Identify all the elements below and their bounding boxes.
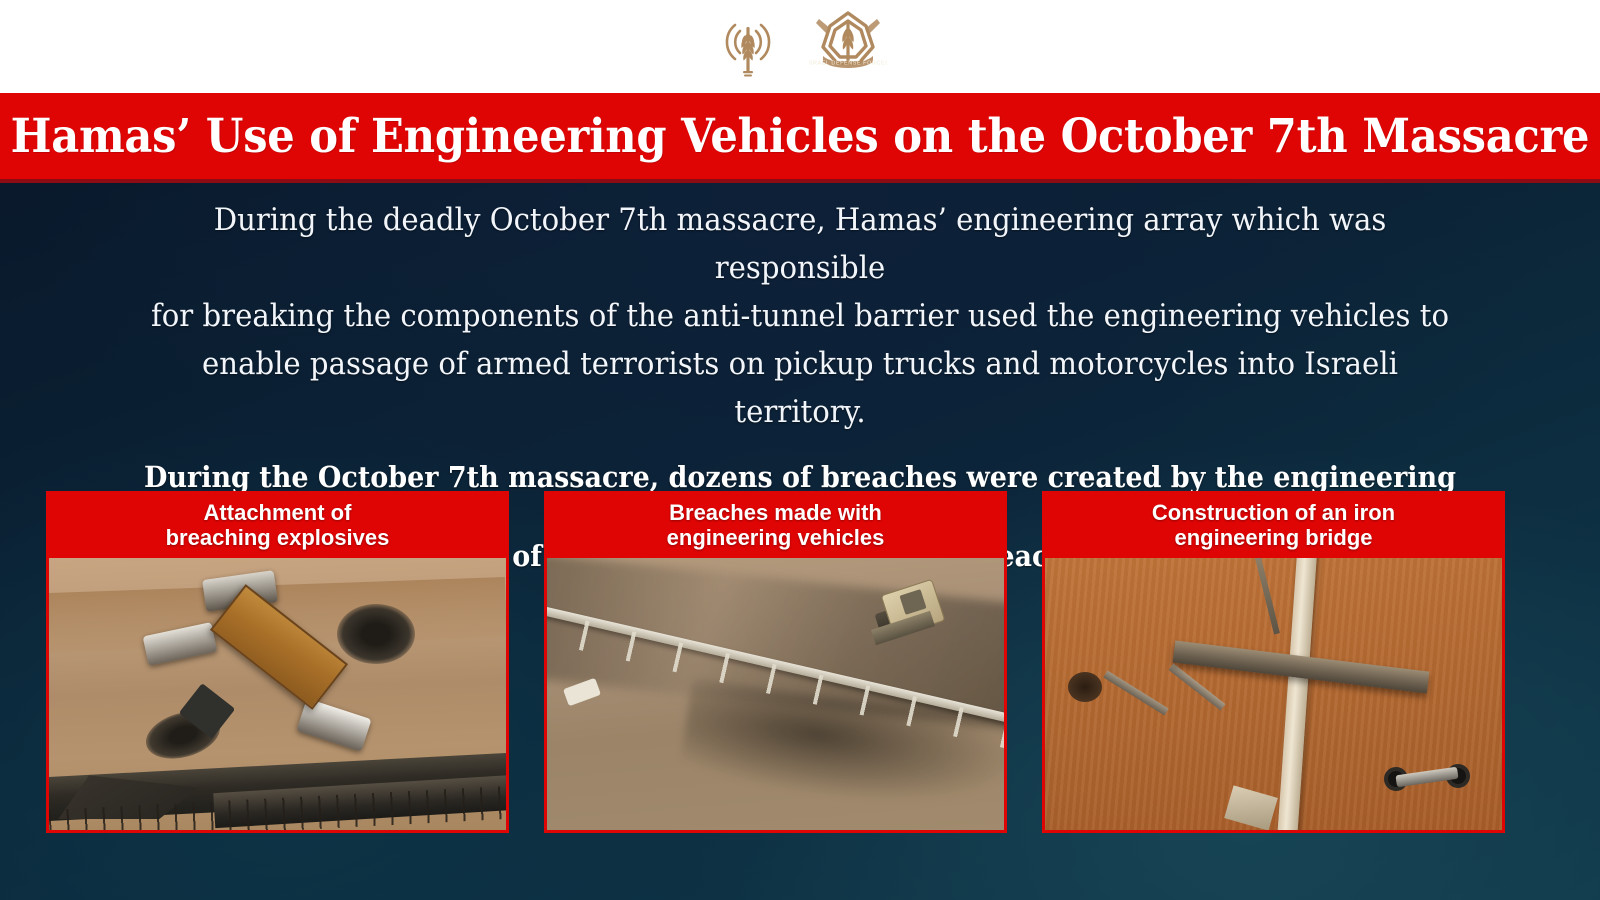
photo-concrete-slab: [1224, 785, 1278, 830]
photo-card-caption-line-1: Construction of an iron: [1051, 501, 1496, 526]
photo-concrete-barrier: [1277, 558, 1318, 830]
lead-paragraph-line-2: for breaking the components of the anti-…: [133, 292, 1468, 340]
photo-card-attachment-of-breaching-explosives: Attachment of breaching explosives: [46, 491, 509, 833]
photo-shrub: [1068, 672, 1102, 702]
photo-card-caption-line-2: engineering vehicles: [553, 526, 998, 551]
photo-card-caption-line-1: Breaches made with: [553, 501, 998, 526]
photo-destroyed-vehicles-at-barrier: [49, 558, 506, 830]
photo-card-caption-line-1: Attachment of: [55, 501, 500, 526]
infographic-poster: ISRAEL DEFENSE FORCES Hamas’ Use of Engi…: [0, 0, 1600, 900]
lead-paragraph-line-1: During the deadly October 7th massacre, …: [133, 196, 1468, 292]
logo-band: ISRAEL DEFENSE FORCES: [0, 0, 1600, 93]
idf-spokesperson-broadcast-logo-icon: [713, 7, 783, 86]
idf-emblem-logo-icon: ISRAEL DEFENSE FORCES: [809, 7, 887, 86]
photo-card-construction-of-an-iron-engineering-bridge: Construction of an iron engineering brid…: [1042, 491, 1505, 833]
photo-metal-rail: [1103, 670, 1168, 715]
lead-paragraph-line-3: enable passage of armed terrorists on pi…: [133, 340, 1468, 436]
photo-metal-rail: [1168, 664, 1225, 711]
title-bar: Hamas’ Use of Engineering Vehicles on th…: [0, 93, 1600, 183]
page-title: Hamas’ Use of Engineering Vehicles on th…: [11, 113, 1590, 160]
photo-iron-beam: [1255, 558, 1281, 634]
photo-bulldozer-at-breached-fence: [547, 558, 1004, 830]
photo-card-caption: Attachment of breaching explosives: [49, 494, 506, 558]
photo-motorcycle: [1384, 763, 1470, 795]
photo-card-row: Attachment of breaching explosives: [46, 491, 1554, 833]
svg-text:ISRAEL DEFENSE FORCES: ISRAEL DEFENSE FORCES: [809, 61, 887, 67]
photo-iron-bridge-over-barrier: [1045, 558, 1502, 830]
photo-card-caption: Construction of an iron engineering brid…: [1045, 494, 1502, 558]
photo-card-caption-line-2: engineering bridge: [1051, 526, 1496, 551]
photo-burn-mark: [337, 604, 415, 664]
photo-card-breaches-made-with-engineering-vehicles: Breaches made with engineering vehicles: [544, 491, 1007, 833]
photo-card-caption: Breaches made with engineering vehicles: [547, 494, 1004, 558]
photo-card-caption-line-2: breaching explosives: [55, 526, 500, 551]
lead-paragraph: During the deadly October 7th massacre, …: [133, 196, 1468, 436]
photo-bulldozer: [876, 580, 954, 650]
